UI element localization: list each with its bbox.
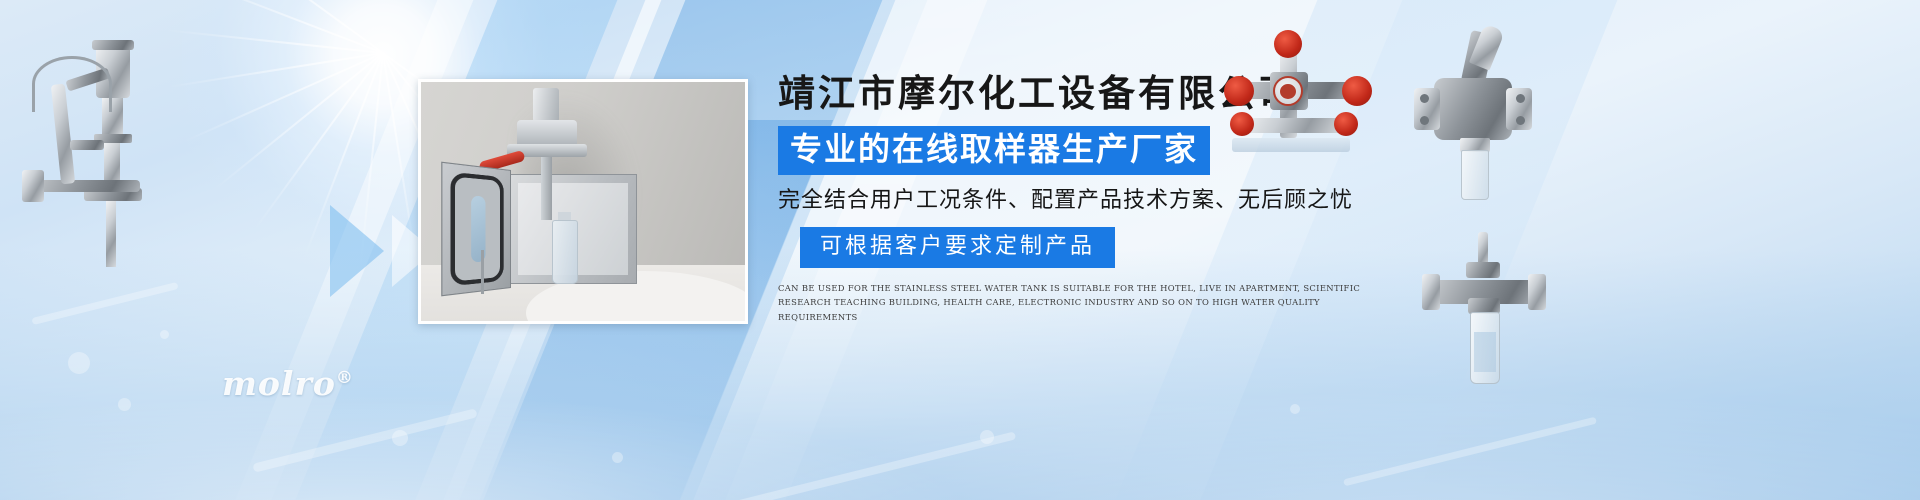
bubble xyxy=(68,352,90,374)
sun-ray xyxy=(167,52,385,88)
sun-ray xyxy=(205,0,384,54)
sun-ray xyxy=(253,52,384,231)
sun-ray xyxy=(183,52,385,143)
bubble xyxy=(612,452,623,463)
sun-ray xyxy=(382,52,418,270)
cross-manifold-illustration xyxy=(1218,32,1378,150)
english-description: Can be used for the stainless steel wate… xyxy=(778,281,1374,325)
sun-ray xyxy=(359,52,384,271)
light-streak xyxy=(704,431,1016,500)
flanged-valve-illustration xyxy=(1414,30,1532,210)
light-streak xyxy=(1343,417,1597,487)
chevron-accent xyxy=(330,205,384,297)
bubble xyxy=(118,398,131,411)
bubble xyxy=(1290,404,1300,414)
light-streak xyxy=(252,408,477,472)
slogan-custom-badge: 可根据客户要求定制产品 xyxy=(800,227,1115,267)
registered-trademark-icon: ® xyxy=(336,368,354,388)
slogan-main-badge: 专业的在线取样器生产厂家 xyxy=(778,126,1210,175)
bubble xyxy=(980,430,994,444)
watermark-text: molro xyxy=(222,364,336,403)
bubble xyxy=(392,430,408,446)
slogan-subtitle: 完全结合用户工况条件、配置产品技术方案、无后顾之忧 xyxy=(778,187,1398,213)
sun-ray xyxy=(212,52,384,192)
promotional-banner: 靖江市摩尔化工设备有限公司 专业的在线取样器生产厂家 完全结合用户工况条件、配置… xyxy=(0,0,1920,500)
sun-ray xyxy=(165,29,384,54)
inline-valve-illustration xyxy=(1422,232,1552,392)
left-equipment-illustration xyxy=(10,22,170,292)
product-photo xyxy=(418,79,748,324)
sun-ray xyxy=(178,0,384,54)
watermark-logo: molro® xyxy=(222,364,354,403)
bubble xyxy=(160,330,169,339)
sun-ray xyxy=(304,52,385,258)
